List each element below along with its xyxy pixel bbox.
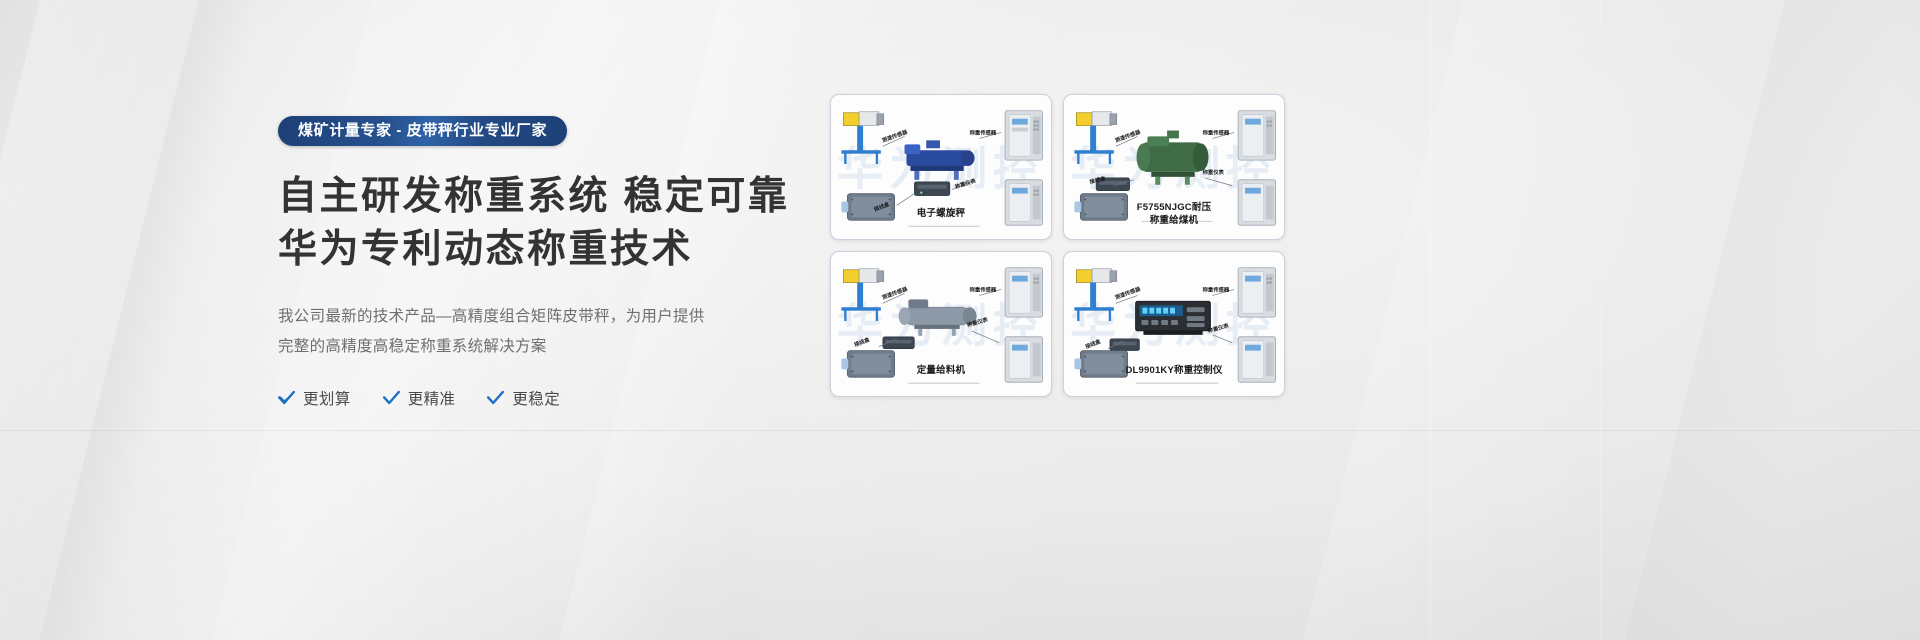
check-icon [278,391,295,405]
bg-streak [1251,0,1769,640]
feature-label: 更划算 [303,387,351,409]
svg-text:测速传感器: 测速传感器 [1114,127,1142,144]
feature-item-3: 更稳定 [487,387,560,409]
feature-label: 更稳定 [512,387,560,409]
hero-description: 我公司最新的技术产品—高精度组合矩阵皮带秤，为用户提供完整的高精度高稳定称重系统… [278,302,718,362]
banner-background: 煤矿计量专家 - 皮带秤行业专业厂家 自主研发称重系统 稳定可靠 华为专利动态称… [0,0,1920,640]
svg-text:称重传感器: 称重传感器 [970,128,997,136]
feature-label: 更精准 [408,387,456,409]
svg-text:称重仪表: 称重仪表 [1203,168,1225,176]
product-card[interactable]: 华为测控 [1063,251,1285,397]
product-caption: 电子螺旋秤 [831,208,1051,221]
product-caption: DL9901KY称重控制仪 [1064,365,1284,378]
product-caption: F5755NJGC耐压 称重给煤机 [1064,202,1284,228]
feature-list: 更划算 更精准 更稳定 [278,387,748,409]
product-caption: 定量给料机 [831,365,1051,378]
svg-text:测速传感器: 测速传感器 [881,127,909,144]
product-card[interactable]: 华为测控 [830,94,1052,240]
page-title: 自主研发称重系统 稳定可靠 华为专利动态称重技术 [278,170,748,276]
headline-line-1: 自主研发称重系统 稳定可靠 [278,170,748,223]
product-card[interactable]: 华为测控 [830,251,1052,397]
svg-text:称重传感器: 称重传感器 [1203,285,1230,293]
svg-text:接线盒: 接线盒 [853,335,871,349]
bg-streak [1569,0,1920,640]
check-icon [383,391,400,405]
svg-text:接线盒: 接线盒 [1084,337,1102,351]
feature-item-2: 更精准 [383,387,456,409]
tagline-badge: 煤矿计量专家 - 皮带秤行业专业厂家 [278,116,567,146]
bg-gridline [1600,0,1601,640]
bg-streak [5,0,295,640]
bg-gridline [1430,0,1431,640]
product-card[interactable]: 华为测控 [1063,94,1285,240]
bg-gridline [0,430,1920,431]
bg-streak [0,0,217,640]
svg-text:测速传感器: 测速传感器 [881,284,909,301]
hero-text-block: 煤矿计量专家 - 皮带秤行业专业厂家 自主研发称重系统 稳定可靠 华为专利动态称… [278,116,748,409]
feature-item-1: 更划算 [278,387,351,409]
headline-line-2: 华为专利动态称重技术 [278,223,748,276]
check-icon [487,391,504,405]
svg-text:称重传感器: 称重传感器 [1203,128,1230,136]
svg-text:称重传感器: 称重传感器 [970,285,997,293]
product-card-grid: 华为测控 [830,94,1285,400]
